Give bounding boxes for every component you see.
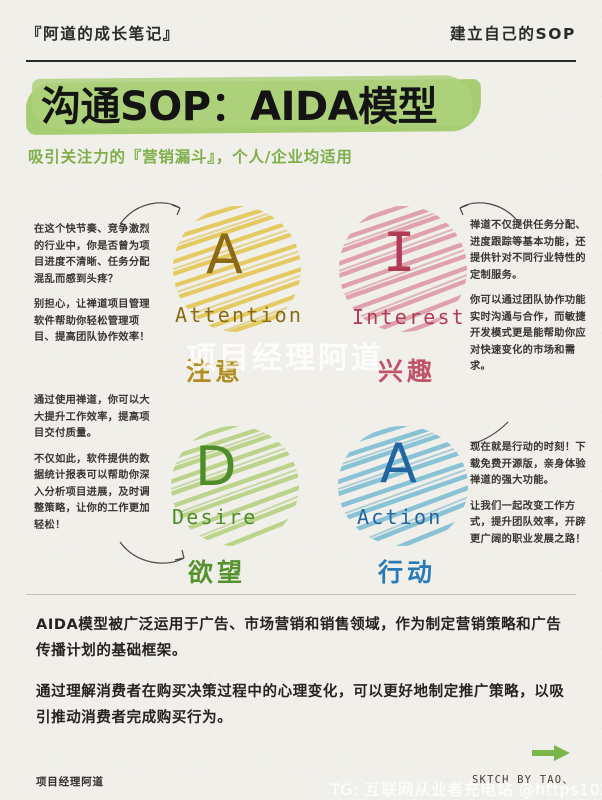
quadrant-chinese-action: 行动 <box>378 553 436 589</box>
quadrant-chinese-desire: 欲望 <box>188 553 246 589</box>
quadrant-english-desire: Desire <box>172 505 257 529</box>
quadrant-chinese-attention: 注意 <box>186 352 244 388</box>
note-bottom-right-p1: 现在就是行动的时刻！下载免费开源版，亲身体验禅道的强大功能。 <box>470 440 588 490</box>
note-bottom-right: 现在就是行动的时刻！下载免费开源版，亲身体验禅道的强大功能。 让我们一起改变工作… <box>470 440 588 548</box>
summary-paragraph-2: 通过理解消费者在购买决策过程中的心理变化，可以更好地制定推广策略，以吸引推动消费… <box>36 679 568 731</box>
quadrant-english-action: Action <box>357 505 442 529</box>
note-bottom-right-p2: 让我们一起改变工作方式，提升团队效率，开辟更广阔的职业发展之路！ <box>470 499 588 549</box>
note-top-right-p1: 禅道不仅提供任务分配、进度跟踪等基本功能，还提供针对不同行业特性的定制服务。 <box>470 218 588 284</box>
note-bottom-left-p2: 不仅如此，软件提供的数据统计报表可以帮助你深入分析项目进展，及时调整策略，让你的… <box>34 452 152 535</box>
quadrant-chinese-interest: 兴趣 <box>378 352 436 388</box>
infographic-page: 『阿道的成长笔记』 建立自己的SOP 沟通SOP：AIDA模型 吸引关注力的『营… <box>0 0 602 800</box>
quadrant-letter-interest: I <box>383 226 416 280</box>
title-block: 沟通SOP：AIDA模型 <box>26 78 496 136</box>
note-top-left: 在这个快节奏、竞争激烈的行业中，你是否曾为项目进度不清晰、任务分配混乱而感到头疼… <box>34 222 152 347</box>
quadrant-letter-attention: A <box>206 228 243 282</box>
header-left-label: 『阿道的成长笔记』 <box>26 22 180 44</box>
quadrant-letter-action: A <box>380 437 417 491</box>
summary-block: AIDA模型被广泛运用于广告、市场营销和销售领域，作为制定营销策略和广告传播计划… <box>36 612 568 731</box>
header-right-label: 建立自己的SOP <box>450 22 576 44</box>
summary-divider <box>26 594 576 595</box>
quadrant-english-interest: Interest <box>352 305 466 329</box>
footer-signature: SKTCH BY TAO、 <box>472 772 574 787</box>
note-top-right-p2: 你可以通过团队协作功能实时沟通与合作，而敏捷开发模式更是能帮助你应对快速变化的市… <box>470 293 588 376</box>
page-subtitle: 吸引关注力的『营销漏斗』，个人/企业均适用 <box>28 145 353 167</box>
quadrant-english-attention: Attention <box>175 303 303 327</box>
note-top-right: 禅道不仅提供任务分配、进度跟踪等基本功能，还提供针对不同行业特性的定制服务。 你… <box>470 218 588 376</box>
footer-author: 项目经理阿道 <box>36 774 104 789</box>
curve-arrow-bottom-left <box>118 536 190 570</box>
note-bottom-left: 通过使用禅道，你可以大大提升工作效率，提高项目交付质量。 不仅如此，软件提供的数… <box>34 393 152 534</box>
summary-paragraph-1: AIDA模型被广泛运用于广告、市场营销和销售领域，作为制定营销策略和广告传播计划… <box>36 612 568 664</box>
note-top-left-p2: 别担心，让禅道项目管理软件帮助你轻松管理项目、提高团队协作效率！ <box>34 297 152 347</box>
page-header: 『阿道的成长笔记』 建立自己的SOP <box>26 22 576 62</box>
page-title: 沟通SOP：AIDA模型 <box>41 84 437 130</box>
note-bottom-left-p1: 通过使用禅道，你可以大大提升工作效率，提高项目交付质量。 <box>34 393 152 443</box>
quadrant-letter-desire: D <box>195 440 237 494</box>
note-top-left-p1: 在这个快节奏、竞争激烈的行业中，你是否曾为项目进度不清晰、任务分配混乱而感到头疼… <box>34 222 152 288</box>
green-arrow-icon <box>530 744 572 762</box>
